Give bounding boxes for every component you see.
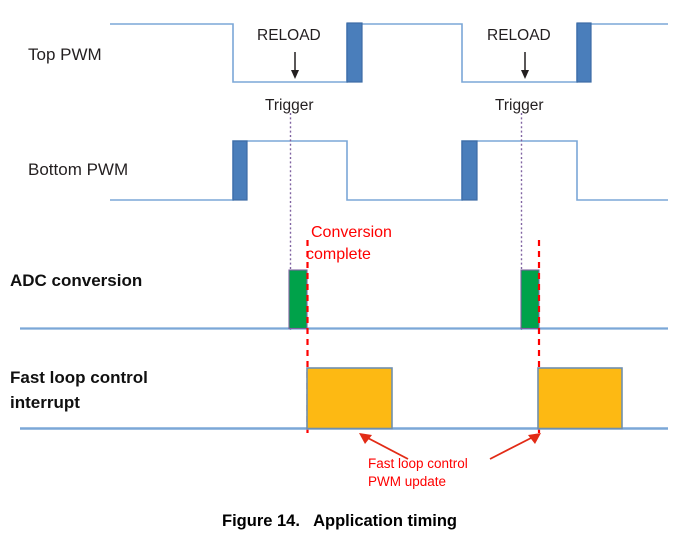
row-label-bottom-pwm: Bottom PWM xyxy=(28,160,128,179)
reload-arrow-2 xyxy=(521,52,529,79)
adc-conversion-pulse-2 xyxy=(521,270,539,329)
conversion-complete-label: Conversioncomplete xyxy=(311,222,392,265)
figure-application-timing: Top PWM Bottom PWM ADC conversion Fast l… xyxy=(0,0,679,558)
top-pwm-waveform xyxy=(110,23,668,82)
top-pwm-highlight-bar-1 xyxy=(347,23,362,82)
fast-loop-interrupt-pulse-1 xyxy=(307,368,392,429)
row-label-adc-conversion: ADC conversion xyxy=(10,271,142,290)
pwm-update-label: Fast loop controlPWM update xyxy=(368,455,468,491)
fast-loop-label-line2: interrupt xyxy=(10,393,80,412)
bottom-pwm-waveform xyxy=(110,141,668,200)
bottom-pwm-highlight-bar-1 xyxy=(233,141,247,200)
top-pwm-highlight-bar-2 xyxy=(577,23,591,82)
pwm-update-arrow-right xyxy=(490,433,541,459)
adc-conversion-pulse-1 xyxy=(289,270,307,329)
reload-label-1: RELOAD xyxy=(257,27,321,44)
conversion-complete-line1: Conversion xyxy=(311,224,392,241)
bottom-pwm-trace xyxy=(110,141,668,200)
trigger-label-2: Trigger xyxy=(495,97,544,114)
row-label-top-pwm: Top PWM xyxy=(28,45,102,64)
reload-arrow-1 xyxy=(291,52,299,79)
figure-caption: Figure 14. Application timing xyxy=(0,512,679,531)
conversion-complete-line2: complete xyxy=(306,244,392,266)
pwm-update-line1: Fast loop control xyxy=(368,456,468,471)
fast-loop-label-line1: Fast loop control xyxy=(10,368,148,387)
fast-loop-interrupt-pulse-2 xyxy=(538,368,622,429)
bottom-pwm-highlight-bar-2 xyxy=(462,141,477,200)
row-label-fast-loop-control-interrupt: Fast loop controlinterrupt xyxy=(10,366,148,415)
pwm-update-line2: PWM update xyxy=(368,474,446,489)
trigger-label-1: Trigger xyxy=(265,97,314,114)
reload-label-2: RELOAD xyxy=(487,27,551,44)
